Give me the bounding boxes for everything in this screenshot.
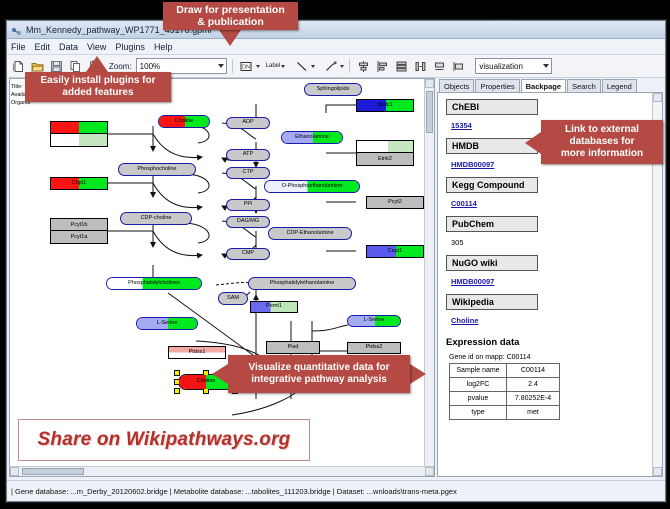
table-row: type met [450,406,560,420]
db-link-nugo-wiki[interactable]: HMDB00097 [451,277,494,286]
svg-text:DN: DN [242,64,250,70]
table-row: log2FC 2.4 [450,378,560,392]
scroll-up-icon[interactable] [425,79,434,88]
node-l-serine-left[interactable]: L-Serine [136,317,198,330]
menu-view[interactable]: View [87,42,106,52]
node-etnk2[interactable]: Etnk2 [357,153,413,165]
node-label: Chpt1 [72,181,87,187]
node-label: Ptdss2 [366,345,383,351]
tab-backpage[interactable]: Backpage [521,79,566,92]
node-label: L-Serine [364,318,385,324]
node-label: CMP [242,251,254,257]
expr-key-type: type [450,406,507,420]
node-label: Etnk2 [378,156,392,162]
node-etnk1-etnk2[interactable]: Etnk1 Etnk2 [356,140,414,166]
table-row: pvalue 7.80252E-4 [450,392,560,406]
tab-search[interactable]: Search [567,79,601,92]
node-adp[interactable]: ADP [226,117,270,129]
zoom-value: 100% [140,62,160,71]
scroll-up-icon[interactable] [653,93,662,102]
node-label: ADP [242,120,253,126]
visualization-value: visualization [479,62,523,71]
gene-id-line: Gene id on mapp: C00114 [449,354,654,361]
node-fill [51,134,107,146]
callout-plugins-arrow-icon [86,56,108,72]
node-label: Cept1 [388,249,403,255]
node-dagmg[interactable]: DAG/MG [226,216,270,228]
node-phosphocholine[interactable]: Phosphocholine [118,163,196,176]
node-label: Pcyt1b [71,222,88,228]
db-header-pubchem: PubChem [446,216,538,232]
line-icon [293,58,310,75]
node-fill [51,122,107,133]
align-center-icon[interactable] [355,58,372,75]
tab-properties[interactable]: Properties [475,79,519,92]
label-tool-text: Label [266,63,281,69]
node-ppi[interactable]: PPi [226,199,270,211]
pathway-info-column: Title: Availab Organis [10,79,36,476]
datanode-icon: DN [238,58,255,75]
callout-visualize-data: Visualize quantitative data for integrat… [228,355,410,393]
chevron-down-icon [256,65,260,68]
node-chkb[interactable]: Chkb [51,122,107,134]
canvas-horizontal-scrollbar[interactable] [10,466,434,476]
node-atp[interactable]: ATP [226,149,270,161]
scroll-down-icon[interactable] [653,467,662,476]
stack-icon[interactable] [393,58,410,75]
callout-install-plugins: Easily install plugins for added feature… [25,72,171,102]
node-cmp[interactable]: CMP [226,248,270,260]
menu-help[interactable]: Help [154,42,173,52]
scrollbar-thumb[interactable] [426,91,433,133]
node-pcyt1a[interactable]: Pcyt1a [51,231,107,243]
node-label: Phosphatidylethanolamine [270,281,335,287]
menu-edit[interactable]: Edit [35,42,51,52]
status-bar: | Gene database: ...m_Derby_20120602.bri… [7,480,665,501]
node-ethanolamine[interactable]: Ethanolamine [281,131,343,144]
chevron-down-icon [340,65,344,68]
node-label: DAG/MG [237,219,259,225]
callout-external-links: Link to external databases for more info… [541,120,663,164]
db-link-kegg-compound[interactable]: C00114 [451,199,477,208]
node-label: Phosphocholine [137,167,176,173]
zoom-label: Zoom: [109,62,132,71]
node-chkb-chka[interactable]: Chkb Chka [50,121,108,147]
expr-key-sample-name: Sample name [450,364,507,378]
node-label: Ptdss1 [189,350,206,356]
node-pemt1[interactable]: Pemt1 [250,301,298,313]
scroll-left-icon[interactable] [10,467,19,476]
node-cept1[interactable]: Cept1 [366,245,424,258]
common-height-icon[interactable] [450,58,467,75]
expr-value-pvalue: 7.80252E-4 [507,392,560,406]
share-text: Share on Wikipathways.org [38,429,291,451]
toolbar-separator [232,59,233,73]
node-phosphatidylethanolamine[interactable]: Phosphatidylethanolamine [248,277,356,290]
node-chpt1[interactable]: Chpt1 [50,177,108,190]
node-label: Pcyt1a [71,234,88,240]
node-cdp-ethanolamine[interactable]: CDP-Ethanolamine [268,227,352,240]
callout-share-wikipathways: Share on Wikipathways.org [18,419,310,461]
pathway-diagram[interactable]: Sphingolipids Choline Ethanolamine Phosp… [36,79,425,467]
node-pcyt1b-pcyt1a[interactable]: Pcyt1b Pcyt1a [50,218,108,244]
node-phosphatidylcholines[interactable]: Phosphatidylcholines [106,277,202,290]
node-pcyt2[interactable]: Pcyt2 [366,196,424,209]
chevron-down-icon [543,64,549,68]
db-link-wikipedia[interactable]: Choline [451,316,479,325]
node-etnk1[interactable]: Etnk1 [357,141,413,153]
node-choline-top[interactable]: Choline [158,115,210,128]
pathway-canvas-pane[interactable]: Title: Availab Organis [9,78,435,477]
node-label: CDP-Ethanolamine [286,231,333,237]
node-ctp[interactable]: CTP [226,167,270,179]
node-label: CDP-choline [141,216,172,222]
db-header-kegg-compound: Kegg Compound [446,177,538,193]
side-pane-tabs: Objects Properties Backpage Search Legen… [437,78,663,92]
pathvisio-icon [11,24,22,35]
line-tool[interactable] [293,58,315,75]
node-ptdss1[interactable]: Ptdss1 [168,346,226,359]
expr-key-pvalue: pvalue [450,392,507,406]
db-header-chebi: ChEBI [446,99,538,115]
node-sam[interactable]: SAM [218,292,248,305]
datanode-tool[interactable]: DN [238,58,260,75]
status-text: | Gene database: ...m_Derby_20120602.bri… [11,487,457,496]
visualization-combo[interactable]: visualization [475,58,552,74]
db-link-chebi[interactable]: 15354 [451,121,472,130]
node-ptdss2[interactable]: Ptdss2 [347,342,401,354]
callout-visualize-arrow-left-icon [212,364,228,384]
chevron-down-icon [281,65,285,68]
node-label: O-Phosphoethanolamine [282,184,343,190]
chevron-down-icon [218,64,224,68]
node-label: PPi [244,202,253,208]
title-bar: Mm_Kennedy_pathway_WP1771_45176.gpml [7,21,665,39]
node-label: Pisd [288,345,299,351]
expr-value-log2fc: 2.4 [507,378,560,392]
scroll-right-icon[interactable] [425,467,434,476]
node-sphingolipids[interactable]: Sphingolipids [304,83,362,96]
tab-legend[interactable]: Legend [602,79,637,92]
node-label: SAM [227,296,239,302]
tab-objects[interactable]: Objects [439,79,474,92]
menu-plugins[interactable]: Plugins [115,42,145,52]
scrollbar-thumb[interactable] [22,468,84,475]
node-label: Choline [175,119,194,125]
node-label: Phosphatidylcholines [128,281,180,287]
common-width-icon[interactable] [431,58,448,75]
expr-value-type: met [507,406,560,420]
menu-data[interactable]: Data [59,42,78,52]
db-header-wikipedia: Wikipedia [446,294,538,310]
canvas-vertical-scrollbar[interactable] [424,79,434,476]
expression-table: Sample name C00114 log2FC 2.4 pvalue 7.8… [449,363,560,420]
interaction-icon [322,58,339,75]
node-l-serine-right[interactable]: L-Serine [347,315,401,327]
callout-draw-arrow-icon [219,30,241,46]
node-label: Pemt1 [266,304,282,310]
distribute-icon[interactable] [412,58,429,75]
menu-bar: File Edit Data View Plugins Help [7,39,665,55]
label-tool[interactable]: Label [266,63,286,69]
node-cdp-choline[interactable]: CDP-choline [120,212,192,225]
node-o-phosphoethanolamine[interactable]: O-Phosphoethanolamine [264,180,360,193]
expression-data-heading: Expression data [446,337,654,348]
expr-key-log2fc: log2FC [450,378,507,392]
screenshot-root: Mm_Kennedy_pathway_WP1771_45176.gpml Fil… [0,0,670,509]
node-label: CTP [243,170,254,176]
node-pisd[interactable]: Pisd [266,341,320,354]
node-chka[interactable]: Chka [51,134,107,146]
expr-value-sample-name: C00114 [507,364,560,378]
db-link-hmdb[interactable]: HMDB00097 [451,160,494,169]
node-sptlc1[interactable]: Sptlc1 [356,99,414,112]
menu-file[interactable]: File [11,42,26,52]
callout-draw-for-publication: Draw for presentation & publication [163,2,298,30]
node-label: L-Serine [157,321,178,327]
align-left-icon[interactable] [374,58,391,75]
node-label: ATP [243,152,253,158]
node-fill [357,141,413,152]
interaction-tool[interactable] [322,58,344,75]
toolbar-separator [349,59,350,73]
callout-visualize-arrow-right-icon [410,364,426,384]
table-row: Sample name C00114 [450,364,560,378]
node-label: Pcyt2 [388,200,402,206]
callout-links-arrow-icon [525,132,541,154]
node-pcyt1b[interactable]: Pcyt1b [51,219,107,231]
node-label: Ethanolamine [295,135,329,141]
node-label: Sphingolipids [317,87,350,93]
db-header-nugo-wiki: NuGO wiki [446,255,538,271]
node-label: Sptlc1 [377,103,392,109]
db-value-pubchem: 305 [451,238,464,247]
chevron-down-icon [311,65,315,68]
